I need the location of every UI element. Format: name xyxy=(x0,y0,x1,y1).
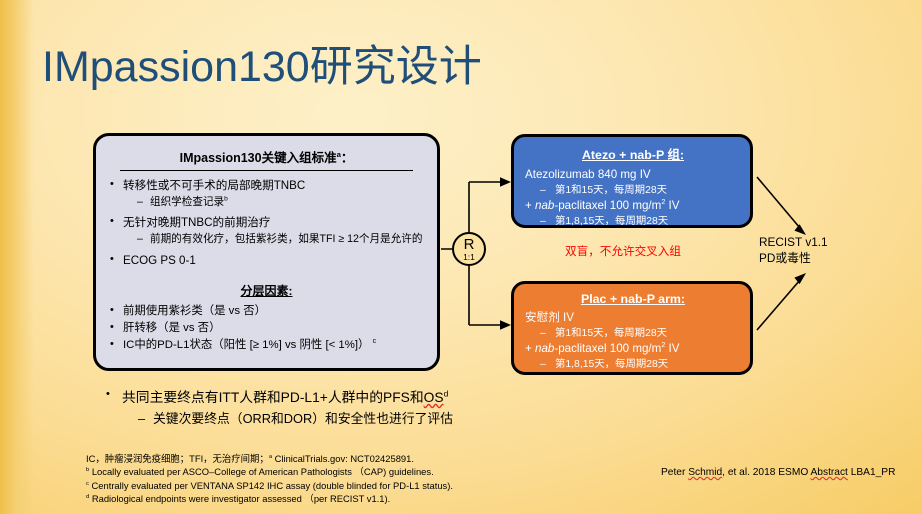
randomization-node: R 1:1 xyxy=(452,232,486,266)
randomization-letter: R xyxy=(464,237,475,252)
footnote-line-4: d Radiological endpoints were investigat… xyxy=(86,492,453,505)
arm-schedule-2: 第1,8,15天，每周期28天 xyxy=(525,358,741,371)
secondary-endpoint: 关键次要终点（ORR和DOR）和安全性也进行了评估 xyxy=(138,411,720,428)
endpoints-section: 共同主要终点有ITT人群和PD-L1+人群中的PFS和OSd 关键次要终点（OR… xyxy=(100,389,720,428)
criteria-subitem: 前期的有效化疗，包括紫衫类，如果TFI ≥ 12个月是允许的 xyxy=(137,233,427,247)
arm-schedule: 第1和15天，每周期28天 xyxy=(525,184,741,197)
list-item: 前期使用紫衫类（是 vs 否） xyxy=(106,304,427,319)
key-eligibility-criteria-box: IMpassion130关键入组标准a： 转移性或不可手术的局部晚期TNBC 组… xyxy=(93,133,440,371)
page-title: IMpassion130研究设计 xyxy=(42,32,482,94)
arm-drug-line: 安慰剂 IV xyxy=(525,311,741,326)
criteria-item-text: 无针对晚期TNBC的前期治疗 xyxy=(123,216,271,229)
arm-drug-line-2: + nab-paclitaxel 100 mg/m2 IV xyxy=(525,199,741,214)
recist-line-2: PD或毒性 xyxy=(759,251,811,265)
arm-schedule: 第1和15天，每周期28天 xyxy=(525,327,741,340)
slide-canvas: IMpassion130研究设计 IMpassion130关键入组标准a： 转移… xyxy=(0,0,922,514)
stratification-heading: 分层因素: xyxy=(106,282,427,299)
list-item: IC中的PD-L1状态（阳性 [≥ 1%] vs 阴性 [< 1%]） c xyxy=(106,338,427,353)
arm-drug-line: Atezolizumab 840 mg IV xyxy=(525,168,741,183)
criteria-heading: IMpassion130关键入组标准a： xyxy=(120,146,413,171)
criteria-list: 转移性或不可手术的局部晚期TNBC 组织学检查记录b 无针对晚期TNBC的前期治… xyxy=(106,178,427,268)
criteria-subitem-superscript: b xyxy=(224,195,228,202)
recist-line-1: RECIST v1.1 xyxy=(759,235,828,249)
treatment-arm-atezo: Atezo + nab-P 组: Atezolizumab 840 mg IV … xyxy=(511,134,753,228)
arm-drug-line-2: + nab-paclitaxel 100 mg/m2 IV xyxy=(525,342,741,357)
blinding-note: 双盲，不允许交叉入组 xyxy=(565,243,681,259)
treatment-arm-placebo: Plac + nab-P arm: 安慰剂 IV 第1和15天，每周期28天 +… xyxy=(511,281,753,375)
randomization-ratio: 1:1 xyxy=(463,253,475,262)
criteria-subitem: 组织学检查记录b xyxy=(137,196,427,210)
primary-endpoint: 共同主要终点有ITT人群和PD-L1+人群中的PFS和OSd xyxy=(100,389,720,407)
criteria-item-text: 转移性或不可手术的局部晚期TNBC xyxy=(123,179,305,192)
footnote-line-1: IC，肿瘤浸润免疫细胞；TFI，无治疗间期；a ClinicalTrials.g… xyxy=(86,452,453,465)
list-item: 无针对晚期TNBC的前期治疗 前期的有效化疗，包括紫衫类，如果TFI ≥ 12个… xyxy=(106,215,427,246)
footnote-line-2: b Locally evaluated per ASCO–College of … xyxy=(86,465,453,478)
arm-title: Plac + nab-P arm: xyxy=(525,292,741,306)
primary-endpoint-os: OS xyxy=(424,390,444,405)
strat-item-superscript: c xyxy=(373,338,377,345)
recist-endpoint-note: RECIST v1.1 PD或毒性 xyxy=(759,235,828,266)
list-item: 肝转移（是 vs 否） xyxy=(106,321,427,336)
arm-title: Atezo + nab-P 组: xyxy=(525,145,741,163)
criteria-item-text: ECOG PS 0-1 xyxy=(123,254,196,267)
arm-schedule-2: 第1,8,15天，每周期28天 xyxy=(525,215,741,228)
list-item: ECOG PS 0-1 xyxy=(106,253,427,269)
footnotes-block: IC，肿瘤浸润免疫细胞；TFI，无治疗间期；a ClinicalTrials.g… xyxy=(86,452,453,505)
list-item: 转移性或不可手术的局部晚期TNBC 组织学检查记录b xyxy=(106,178,427,209)
footnote-line-3: c Centrally evaluated per VENTANA SP142 … xyxy=(86,479,453,492)
citation: Peter Schmid, et al. 2018 ESMO Abstract … xyxy=(661,467,895,478)
